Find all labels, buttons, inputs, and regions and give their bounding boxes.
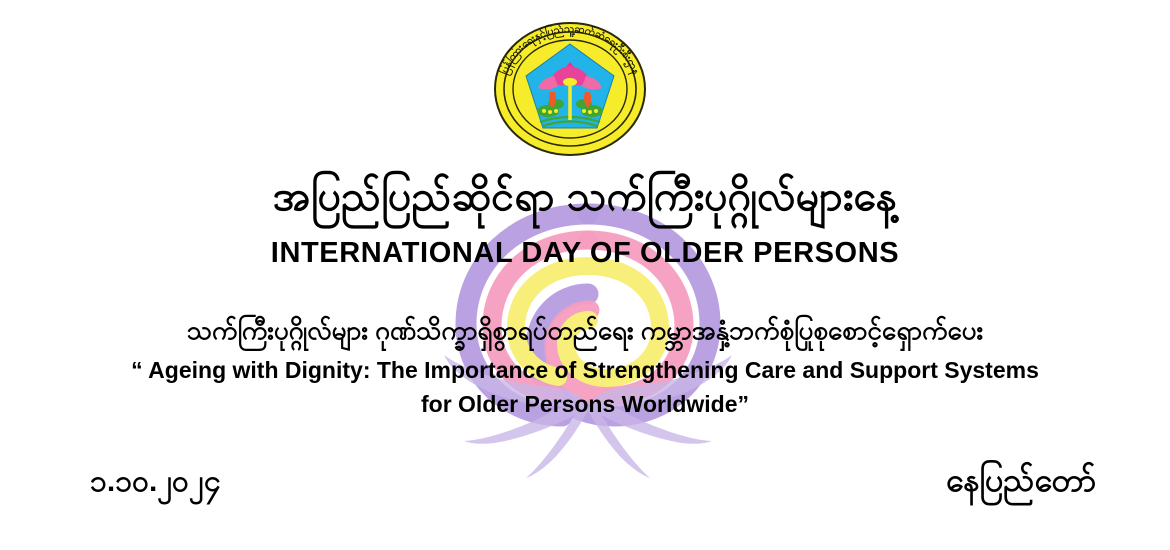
theme-english-line-1: “ Ageing with Dignity: The Importance of… <box>0 355 1170 385</box>
footer-place: နေပြည်တော် <box>946 458 1096 502</box>
theme-english-line-2: for Older Persons Worldwide” <box>0 389 1170 419</box>
myanmar-social-welfare-emblem: ပြန်ကြားရေးနှင့်ပြည်သူ့ဆက်ဆံရေးဦးစီးဌာန <box>480 16 660 158</box>
theme-burmese: သက်ကြီးပုဂ္ဂိုလ်များ ဂုဏ်သိက္ခာရှိစွာရပ်… <box>0 313 1170 347</box>
footer-date: ၁.၁၀.၂၀၂၄ <box>90 462 221 502</box>
title-burmese: အပြည်ပြည်ဆိုင်ရာ သက်ကြီးပုဂ္ဂိုလ်များနေ့ <box>0 170 1170 222</box>
poster-canvas: ပြန်ကြားရေးနှင့်ပြည်သူ့ဆက်ဆံရေးဦးစီးဌာန <box>0 0 1170 550</box>
title-english: INTERNATIONAL DAY OF OLDER PERSONS <box>0 236 1170 270</box>
